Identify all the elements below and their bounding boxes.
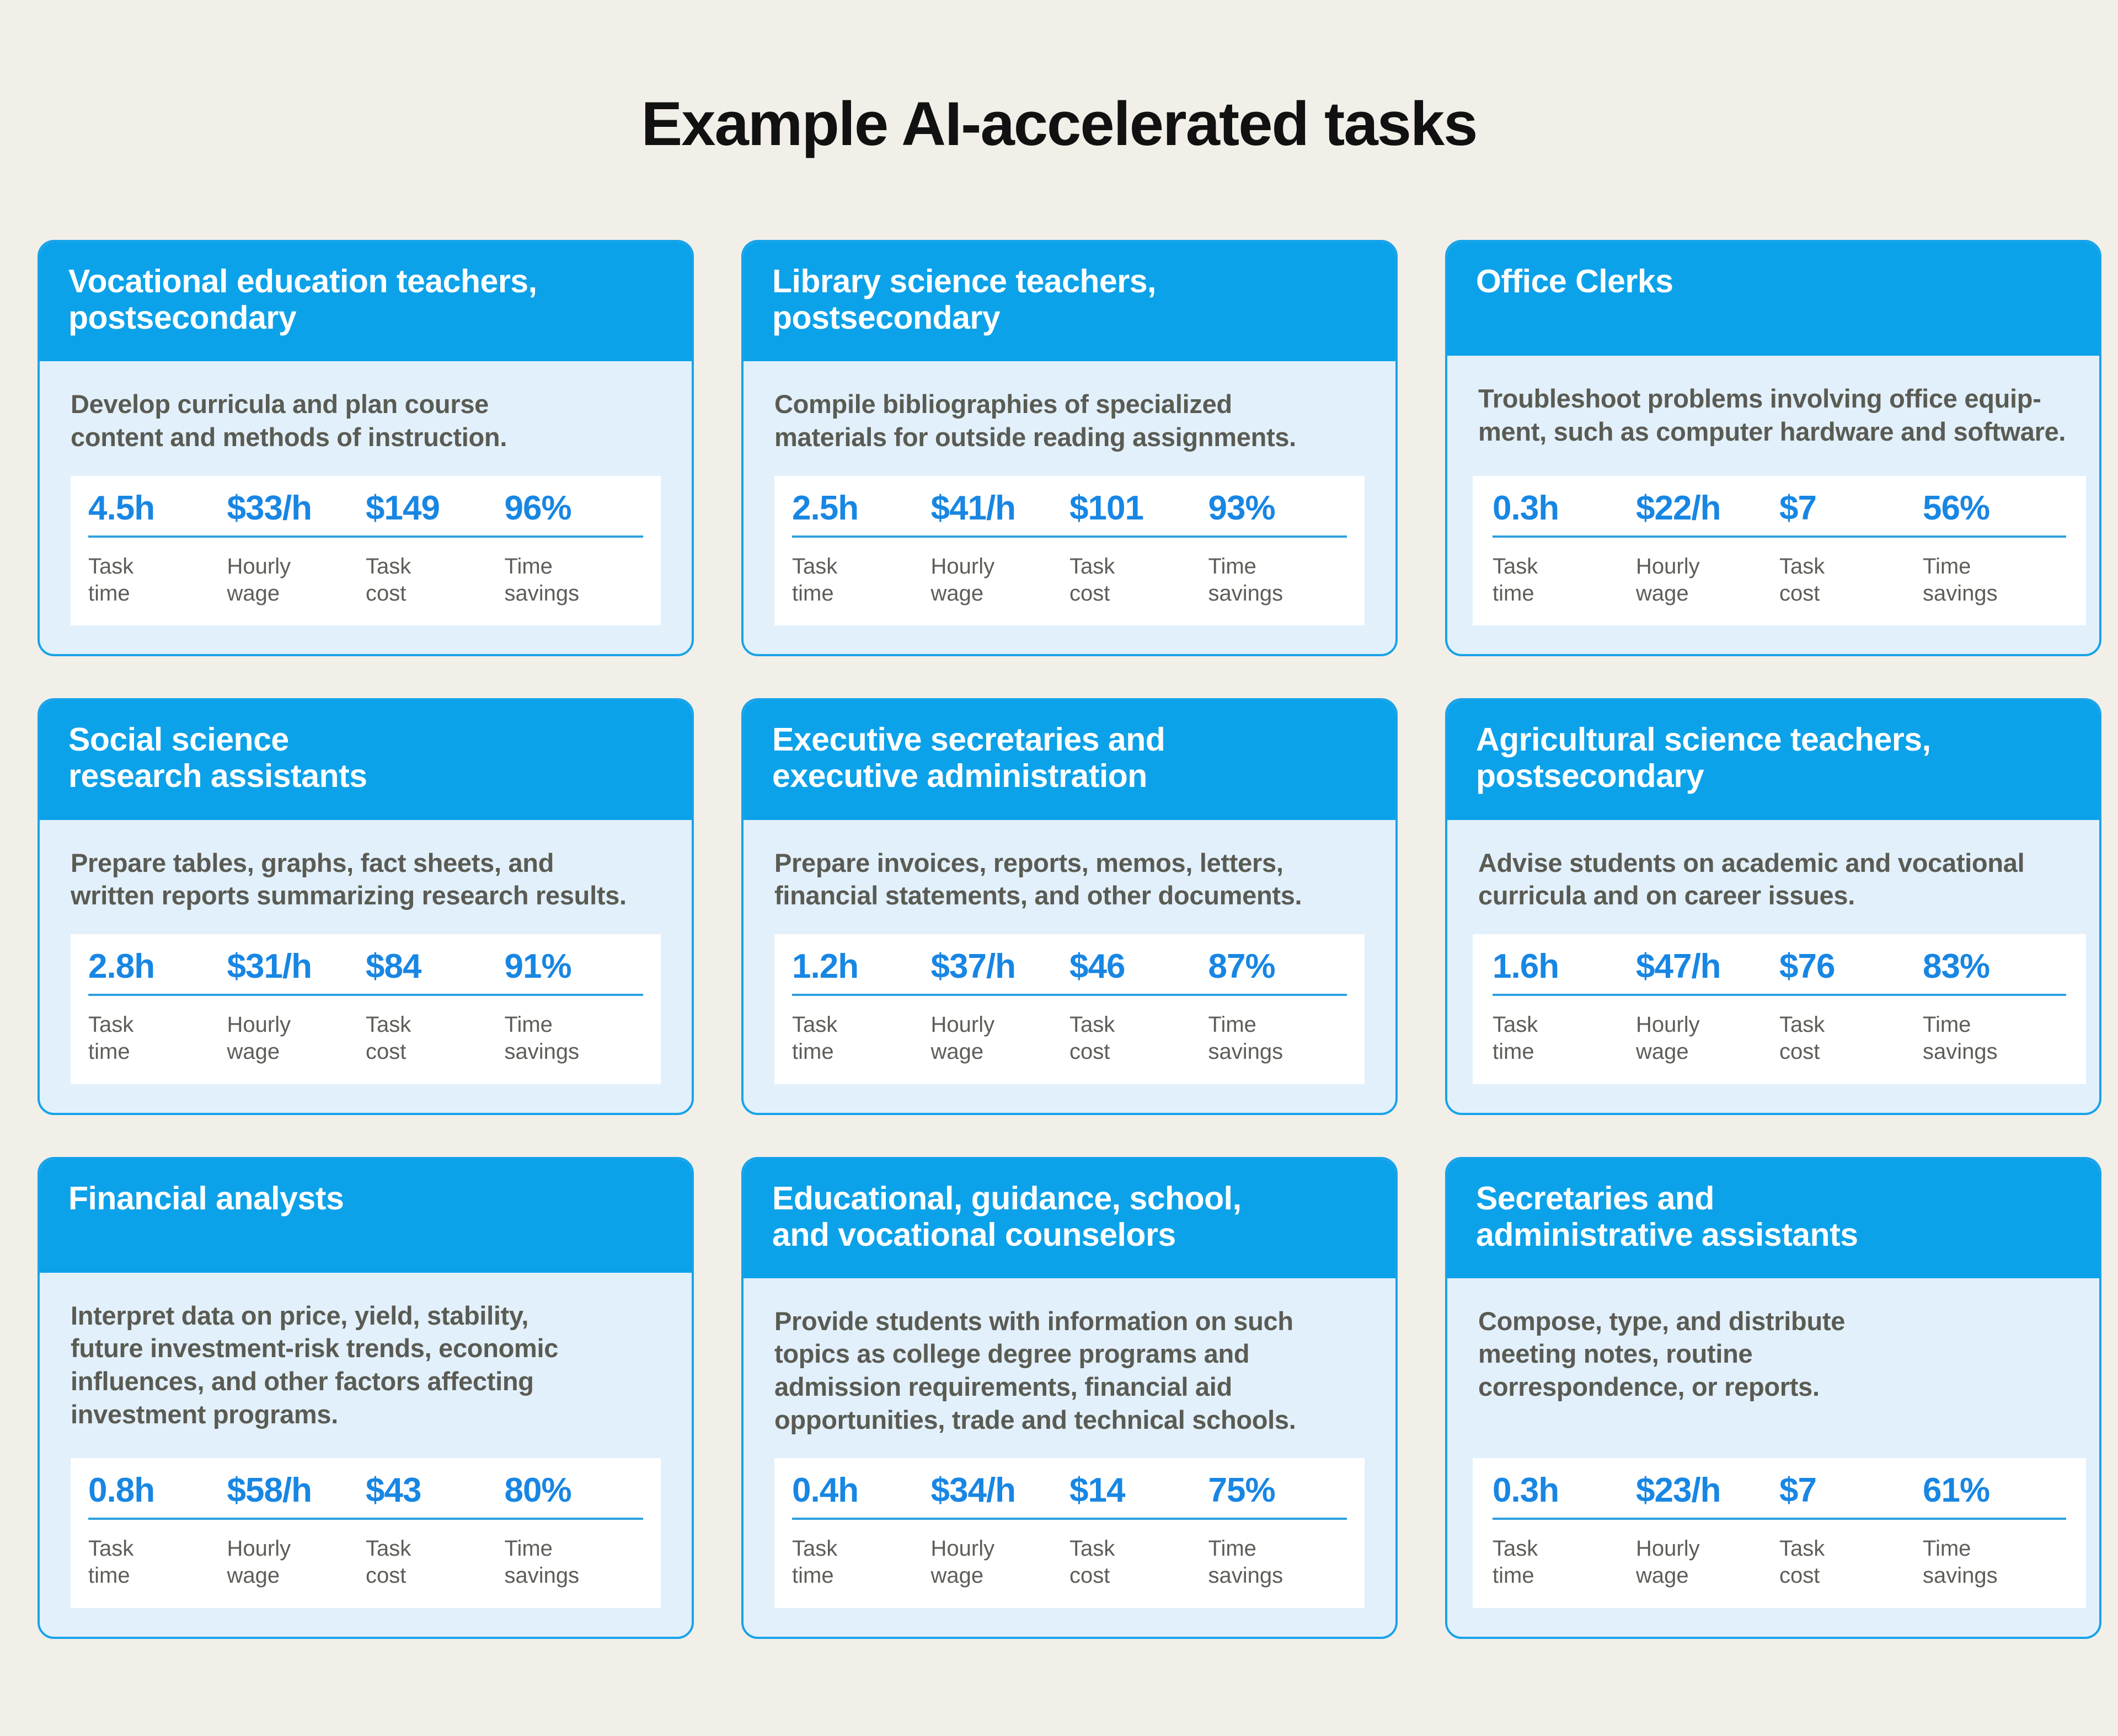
stat-value-task-cost: $76 (1779, 950, 1923, 984)
stat-label-hourly-wage: Hourly wage (931, 1535, 1070, 1589)
stat-label-task-time: Task time (1493, 1535, 1636, 1589)
stat-label-task-cost: Task cost (1069, 1535, 1208, 1589)
stat-label-task-time: Task time (792, 553, 931, 607)
stats-box: 0.8h $58/h $43 80% Task time Hourly wage… (71, 1458, 661, 1608)
card-description: Troubleshoot problems involving office e… (1478, 382, 2068, 448)
stat-label-task-cost: Task cost (1779, 553, 1923, 607)
task-card: Educational, guidance, school, and vocat… (741, 1157, 1398, 1639)
card-header: Secretaries and administrative assistant… (1445, 1157, 2101, 1278)
card-title: Executive secretaries and executive admi… (772, 721, 1367, 794)
stat-value-time-savings: 96% (505, 491, 644, 526)
stat-label-task-cost: Task cost (366, 553, 505, 607)
stat-labels-row: Task time Hourly wage Task cost Time sav… (1493, 538, 2066, 607)
stat-value-hourly-wage: $33/h (227, 491, 366, 526)
card-header: Office Clerks (1445, 240, 2101, 356)
card-header: Financial analysts (38, 1157, 694, 1273)
stat-labels-row: Task time Hourly wage Task cost Time sav… (792, 996, 1347, 1065)
stat-label-task-cost: Task cost (1779, 1535, 1923, 1589)
stat-label-hourly-wage: Hourly wage (1636, 1535, 1779, 1589)
stat-labels-row: Task time Hourly wage Task cost Time sav… (1493, 996, 2066, 1065)
stat-labels-row: Task time Hourly wage Task cost Time sav… (88, 538, 643, 607)
card-body: Prepare invoices, reports, memos, letter… (744, 820, 1395, 1113)
stat-value-time-savings: 91% (505, 950, 644, 984)
stat-label-task-time: Task time (792, 1535, 931, 1589)
task-card: Financial analysts Interpret data on pri… (38, 1157, 694, 1639)
stat-label-task-cost: Task cost (366, 1535, 505, 1589)
stat-label-task-time: Task time (1493, 1011, 1636, 1065)
card-description: Compose, type, and distribute meeting no… (1478, 1305, 2068, 1403)
stat-value-hourly-wage: $34/h (931, 1474, 1070, 1508)
stat-value-task-cost: $46 (1069, 950, 1208, 984)
stats-box: 1.2h $37/h $46 87% Task time Hourly wage… (774, 934, 1365, 1084)
stat-values-row: 1.2h $37/h $46 87% (792, 950, 1347, 994)
stat-label-hourly-wage: Hourly wage (931, 553, 1070, 607)
stat-value-task-time: 4.5h (88, 491, 227, 526)
stat-value-task-time: 0.3h (1493, 1474, 1636, 1508)
stat-label-time-savings: Time savings (1923, 1535, 2066, 1589)
card-body: Troubleshoot problems involving office e… (1447, 356, 2099, 654)
card-title: Vocational education teachers, postsecon… (68, 263, 663, 336)
stat-label-hourly-wage: Hourly wage (227, 553, 366, 607)
stat-value-task-cost: $84 (366, 950, 505, 984)
stat-label-task-time: Task time (88, 1535, 227, 1589)
stats-box: 0.3h $22/h $7 56% Task time Hourly wage … (1473, 476, 2086, 626)
stat-value-task-cost: $101 (1069, 491, 1208, 526)
stat-value-hourly-wage: $41/h (931, 491, 1070, 526)
stat-value-time-savings: 83% (1923, 950, 2066, 984)
stat-value-task-cost: $14 (1069, 1474, 1208, 1508)
card-description: Prepare tables, graphs, fact sheets, and… (71, 846, 661, 912)
card-description: Provide students with information on suc… (774, 1305, 1365, 1437)
stat-value-task-time: 0.8h (88, 1474, 227, 1508)
stat-label-task-time: Task time (88, 1011, 227, 1065)
stat-value-task-cost: $149 (366, 491, 505, 526)
stats-box: 0.3h $23/h $7 61% Task time Hourly wage … (1473, 1458, 2086, 1608)
task-card: Vocational education teachers, postsecon… (38, 240, 694, 656)
card-body: Prepare tables, graphs, fact sheets, and… (40, 820, 692, 1113)
stat-label-hourly-wage: Hourly wage (227, 1535, 366, 1589)
card-description: Advise students on academic and vocation… (1478, 846, 2068, 912)
card-title: Secretaries and administrative assistant… (1476, 1180, 2071, 1253)
stat-values-row: 0.8h $58/h $43 80% (88, 1474, 643, 1518)
stat-values-row: 0.4h $34/h $14 75% (792, 1474, 1347, 1518)
task-card-grid: Vocational education teachers, postsecon… (0, 199, 2118, 1639)
stat-value-time-savings: 56% (1923, 491, 2066, 526)
stat-value-task-time: 1.6h (1493, 950, 1636, 984)
stat-values-row: 2.5h $41/h $101 93% (792, 491, 1347, 535)
stat-values-row: 1.6h $47/h $76 83% (1493, 950, 2066, 994)
stat-values-row: 0.3h $23/h $7 61% (1493, 1474, 2066, 1518)
task-card: Social science research assistants Prepa… (38, 698, 694, 1115)
stat-label-hourly-wage: Hourly wage (227, 1011, 366, 1065)
task-card: Agricultural science teachers, postsecon… (1445, 698, 2101, 1115)
card-description: Compile bibliographies of specialized ma… (774, 388, 1365, 453)
stat-label-task-cost: Task cost (366, 1011, 505, 1065)
stat-value-hourly-wage: $23/h (1636, 1474, 1779, 1508)
stat-label-time-savings: Time savings (1923, 553, 2066, 607)
stats-box: 4.5h $33/h $149 96% Task time Hourly wag… (71, 476, 661, 626)
card-body: Compose, type, and distribute meeting no… (1447, 1278, 2099, 1637)
stat-label-hourly-wage: Hourly wage (1636, 553, 1779, 607)
stat-label-task-cost: Task cost (1779, 1011, 1923, 1065)
stats-box: 2.5h $41/h $101 93% Task time Hourly wag… (774, 476, 1365, 626)
stat-labels-row: Task time Hourly wage Task cost Time sav… (792, 1520, 1347, 1589)
stat-label-hourly-wage: Hourly wage (931, 1011, 1070, 1065)
stat-value-task-time: 2.8h (88, 950, 227, 984)
task-card: Executive secretaries and executive admi… (741, 698, 1398, 1115)
card-body: Provide students with information on suc… (744, 1278, 1395, 1637)
stat-label-task-cost: Task cost (1069, 1011, 1208, 1065)
card-description: Develop curricula and plan course conten… (71, 388, 661, 453)
card-header: Library science teachers, postsecondary (741, 240, 1398, 361)
stat-labels-row: Task time Hourly wage Task cost Time sav… (88, 1520, 643, 1589)
stat-label-task-time: Task time (1493, 553, 1636, 607)
card-header: Social science research assistants (38, 698, 694, 819)
card-title: Office Clerks (1476, 263, 2071, 299)
card-title: Educational, guidance, school, and vocat… (772, 1180, 1367, 1253)
stat-label-time-savings: Time savings (1923, 1011, 2066, 1065)
stat-labels-row: Task time Hourly wage Task cost Time sav… (88, 996, 643, 1065)
stat-label-task-cost: Task cost (1069, 553, 1208, 607)
task-card: Office Clerks Troubleshoot problems invo… (1445, 240, 2101, 656)
stat-value-task-cost: $43 (366, 1474, 505, 1508)
stat-value-hourly-wage: $58/h (227, 1474, 366, 1508)
card-body: Advise students on academic and vocation… (1447, 820, 2099, 1113)
card-body: Develop curricula and plan course conten… (40, 361, 692, 654)
stat-label-task-time: Task time (88, 553, 227, 607)
card-description: Prepare invoices, reports, memos, letter… (774, 846, 1365, 912)
stat-label-time-savings: Time savings (1208, 1011, 1347, 1065)
stat-value-time-savings: 87% (1208, 950, 1347, 984)
stat-label-time-savings: Time savings (505, 553, 644, 607)
stat-label-hourly-wage: Hourly wage (1636, 1011, 1779, 1065)
stat-values-row: 2.8h $31/h $84 91% (88, 950, 643, 994)
card-body: Compile bibliographies of specialized ma… (744, 361, 1395, 654)
card-title: Agricultural science teachers, postsecon… (1476, 721, 2071, 794)
stats-box: 0.4h $34/h $14 75% Task time Hourly wage… (774, 1458, 1365, 1608)
stat-label-time-savings: Time savings (505, 1011, 644, 1065)
infographic-page: Example AI-accelerated tasks Vocational … (0, 41, 2118, 1736)
stat-value-task-time: 1.2h (792, 950, 931, 984)
stat-values-row: 4.5h $33/h $149 96% (88, 491, 643, 535)
stat-values-row: 0.3h $22/h $7 56% (1493, 491, 2066, 535)
stat-value-hourly-wage: $31/h (227, 950, 366, 984)
stat-label-time-savings: Time savings (505, 1535, 644, 1589)
page-title: Example AI-accelerated tasks (0, 41, 2118, 158)
card-title: Library science teachers, postsecondary (772, 263, 1367, 336)
task-card: Secretaries and administrative assistant… (1445, 1157, 2101, 1639)
card-body: Interpret data on price, yield, stabilit… (40, 1273, 692, 1637)
stat-value-hourly-wage: $22/h (1636, 491, 1779, 526)
card-title: Social science research assistants (68, 721, 663, 794)
stat-labels-row: Task time Hourly wage Task cost Time sav… (792, 538, 1347, 607)
stat-value-task-cost: $7 (1779, 1474, 1923, 1508)
stat-label-time-savings: Time savings (1208, 553, 1347, 607)
stat-value-task-cost: $7 (1779, 491, 1923, 526)
card-header: Vocational education teachers, postsecon… (38, 240, 694, 361)
stat-value-time-savings: 75% (1208, 1474, 1347, 1508)
stat-value-time-savings: 80% (505, 1474, 644, 1508)
card-header: Educational, guidance, school, and vocat… (741, 1157, 1398, 1278)
stat-label-time-savings: Time savings (1208, 1535, 1347, 1589)
stat-value-time-savings: 93% (1208, 491, 1347, 526)
stats-box: 1.6h $47/h $76 83% Task time Hourly wage… (1473, 934, 2086, 1084)
stat-labels-row: Task time Hourly wage Task cost Time sav… (1493, 1520, 2066, 1589)
stat-value-hourly-wage: $37/h (931, 950, 1070, 984)
card-title: Financial analysts (68, 1180, 663, 1217)
stat-value-task-time: 0.4h (792, 1474, 931, 1508)
stat-label-task-time: Task time (792, 1011, 931, 1065)
stat-value-task-time: 2.5h (792, 491, 931, 526)
stat-value-hourly-wage: $47/h (1636, 950, 1779, 984)
card-header: Executive secretaries and executive admi… (741, 698, 1398, 819)
stat-value-time-savings: 61% (1923, 1474, 2066, 1508)
task-card: Library science teachers, postsecondary … (741, 240, 1398, 656)
stat-value-task-time: 0.3h (1493, 491, 1636, 526)
stats-box: 2.8h $31/h $84 91% Task time Hourly wage… (71, 934, 661, 1084)
card-description: Interpret data on price, yield, stabilit… (71, 1299, 661, 1431)
card-header: Agricultural science teachers, postsecon… (1445, 698, 2101, 819)
